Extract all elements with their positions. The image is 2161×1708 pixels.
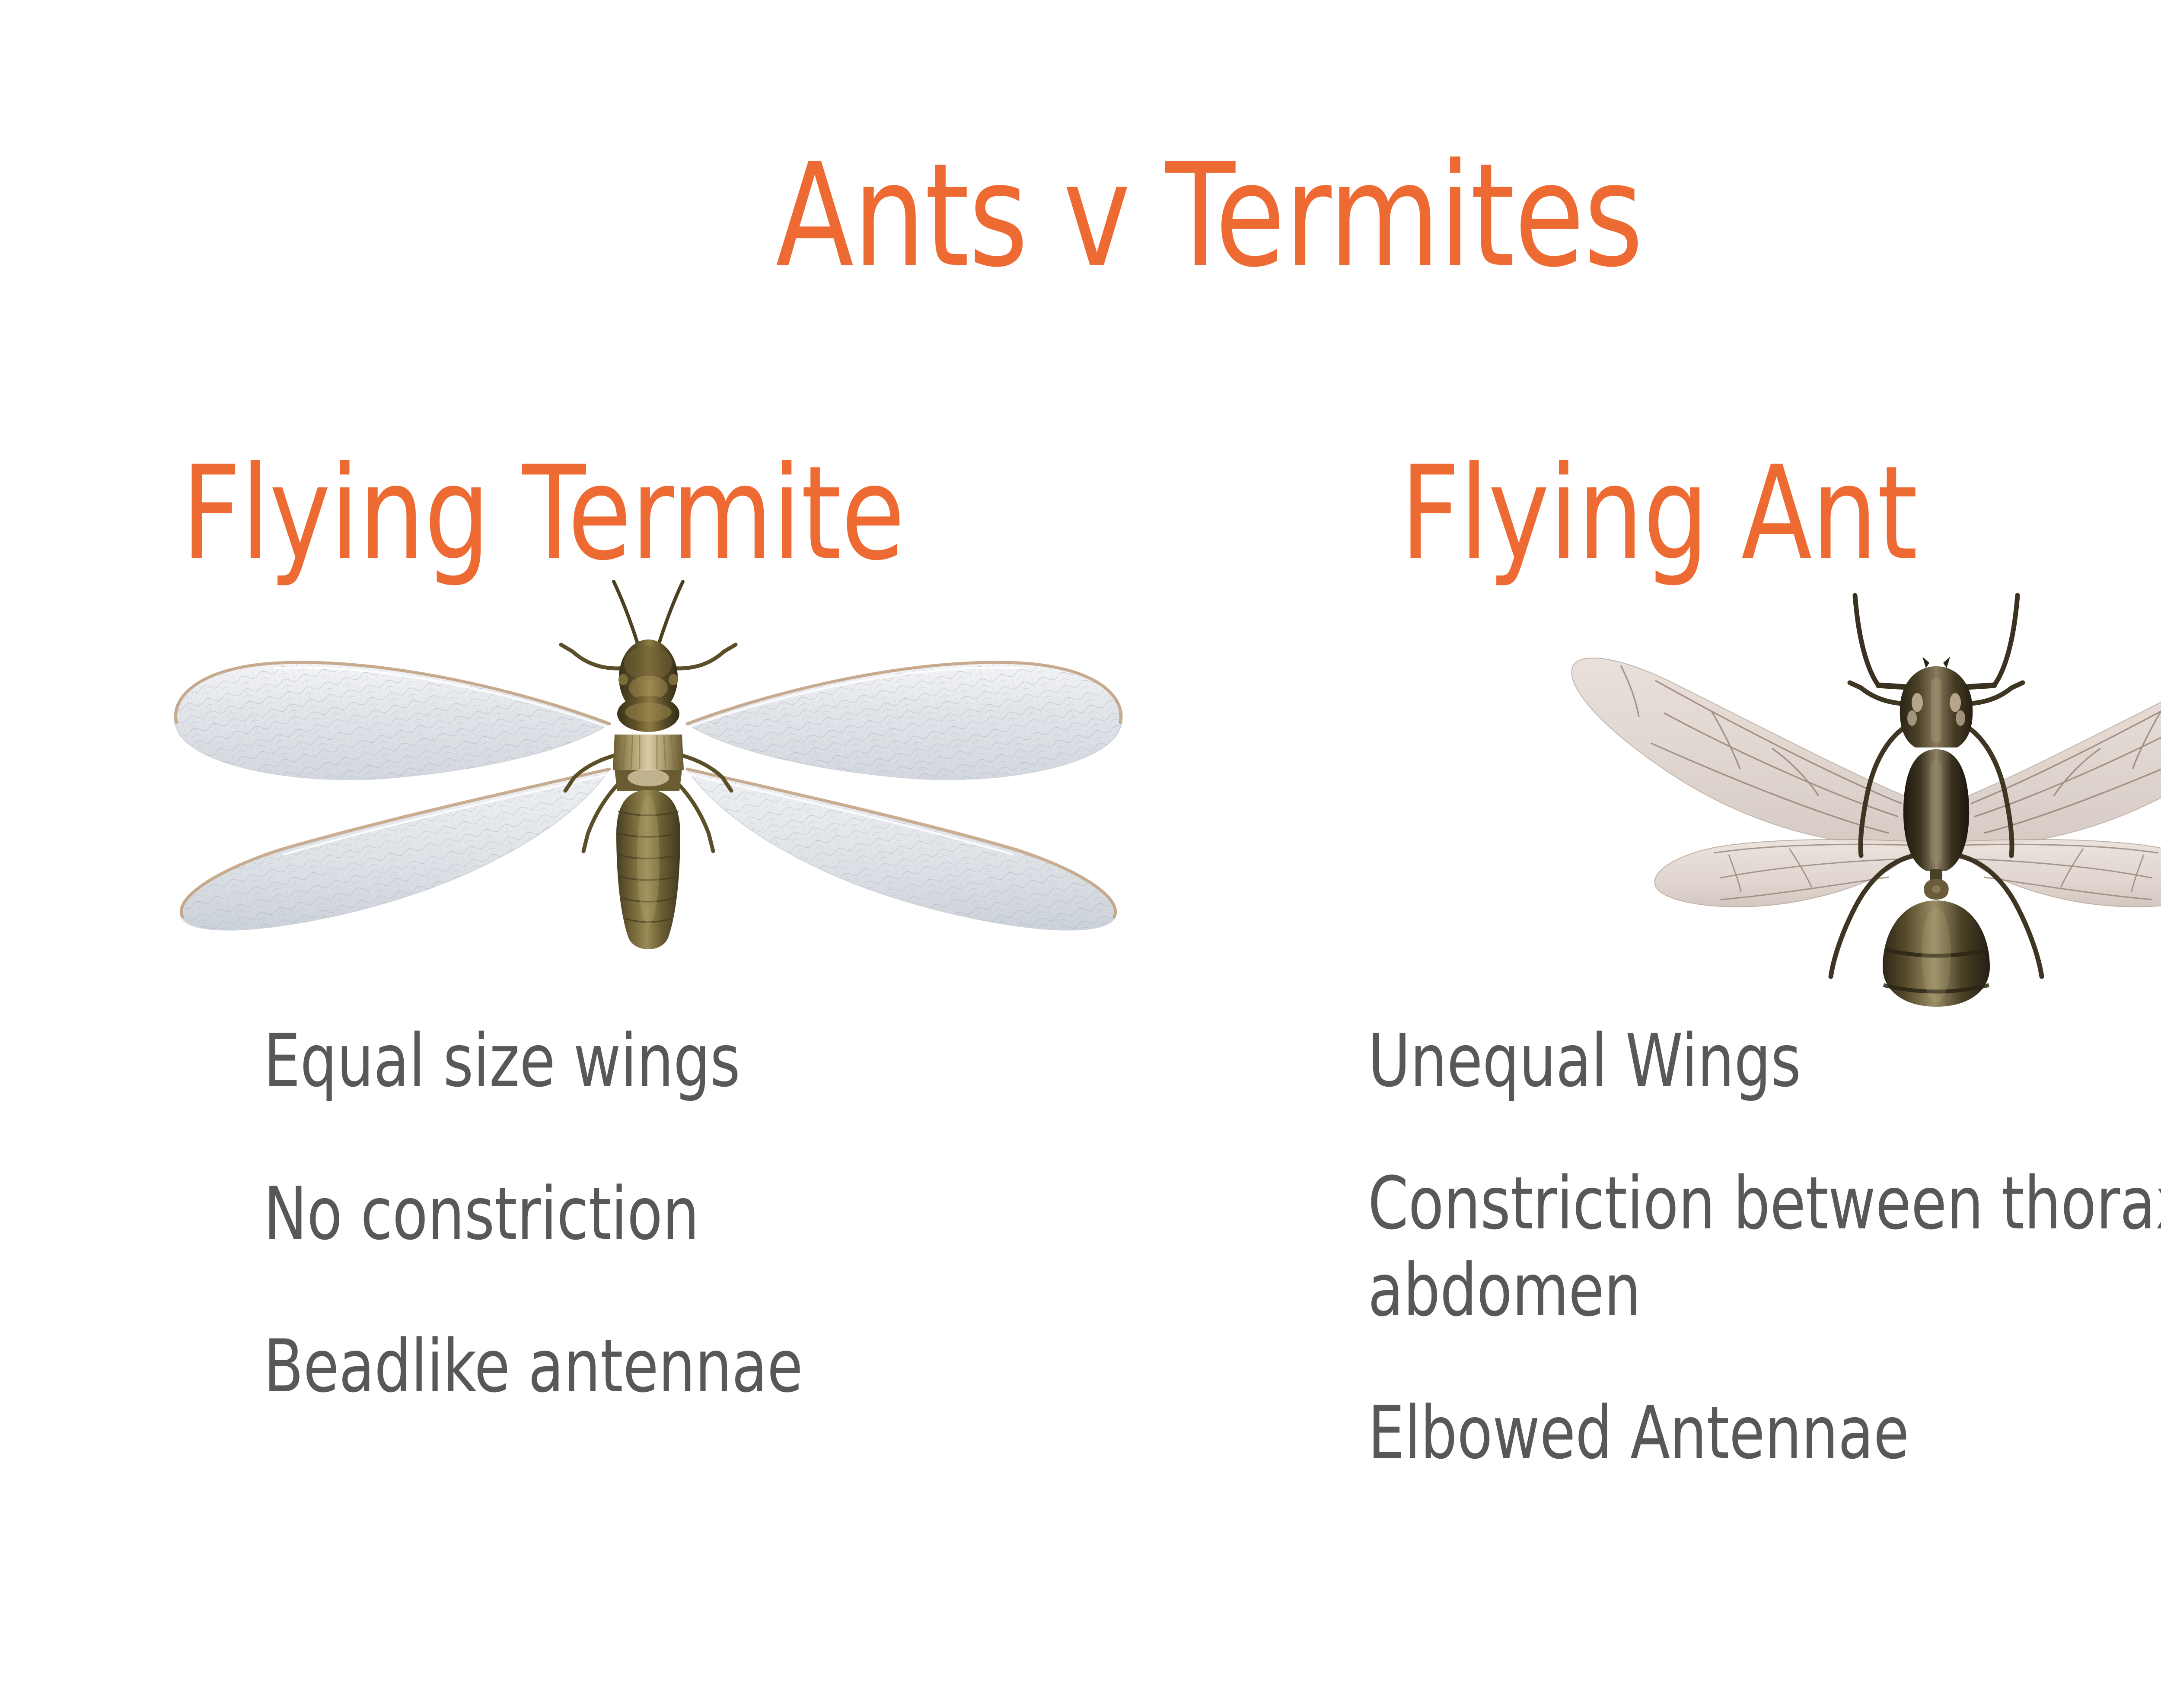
infographic-canvas: Ants v Termites Flying Termite: [0, 0, 2161, 1708]
column-heading-ant: Flying Ant: [1400, 449, 1918, 579]
feature-list-termite: Equal size wings No constriction Beadlik…: [264, 1018, 1214, 1410]
feature-item: Unequal Wings: [1368, 1018, 2161, 1105]
feature-item: Equal size wings: [264, 1018, 1214, 1105]
feature-item: Elbowed Antennae: [1368, 1390, 2161, 1477]
column-heading-termite: Flying Termite: [182, 449, 905, 579]
ant-petiole-constriction: [1924, 869, 1948, 900]
column-ant: Flying Ant: [1288, 0, 2161, 1708]
ant-hindwing-right: [1954, 840, 2161, 907]
termite-forewing-right: [687, 662, 1122, 779]
ant-abdomen: [1883, 900, 1990, 1007]
ant-thorax: [1903, 749, 1969, 871]
termite-hindwing-right: [687, 769, 1116, 930]
termite-abdomen: [616, 790, 680, 949]
feature-list-ant: Unequal Wings Constriction between thora…: [1368, 1018, 2161, 1476]
feature-item: Beadlike antennae: [264, 1323, 1214, 1410]
ant-head: [1900, 657, 1973, 747]
flying-termite-illustration: [151, 575, 1145, 955]
column-termite: Flying Termite: [78, 0, 1245, 1708]
feature-item: No constriction: [264, 1170, 1214, 1258]
termite-thorax: [613, 735, 684, 791]
feature-item: Constriction between thorax & abdomen: [1368, 1160, 2161, 1334]
termite-hindwing-left: [181, 769, 609, 930]
termite-forewing-left: [174, 662, 609, 779]
termite-antennae: [614, 582, 683, 647]
flying-ant-illustration: [1547, 575, 2161, 1007]
